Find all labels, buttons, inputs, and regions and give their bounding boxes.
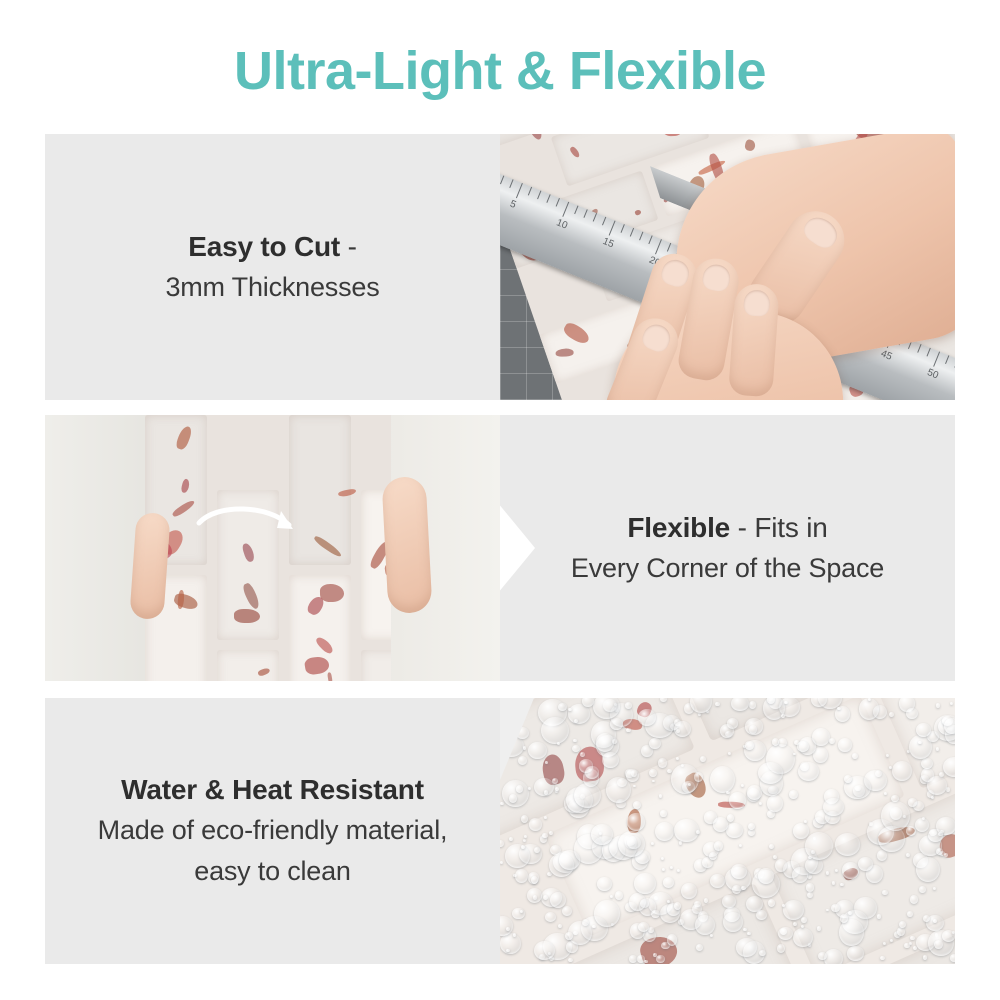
feature-headline-bold: Flexible <box>627 512 730 543</box>
feature-headline-water-heat-resistant: Water & Heat Resistant <box>121 770 424 810</box>
infographic-page: Ultra-Light & Flexible Easy to Cut - 3mm… <box>0 0 1000 1000</box>
feature-headline-bold: Easy to Cut <box>188 231 340 262</box>
supporting-thumb-right <box>381 476 432 614</box>
ring-finger-nail <box>639 321 673 355</box>
little-finger <box>728 283 780 398</box>
page-title: Ultra-Light & Flexible <box>0 38 1000 104</box>
cutting-panel-photo: 051015202530354045505560 <box>500 134 955 400</box>
bent-brick-panel <box>145 415 391 681</box>
feature-text-panel-easy-to-cut: Easy to Cut - 3mm Thicknesses <box>45 134 500 400</box>
little-finger-nail <box>743 289 770 317</box>
feature-text-panel-flexible: Flexible - Fits in Every Corner of the S… <box>500 415 955 681</box>
index-finger-nail <box>659 256 692 289</box>
feature-subline-line2: easy to clean <box>194 851 351 892</box>
feature-headline-flexible: Flexible - Fits in <box>627 508 827 548</box>
feature-row-easy-to-cut: Easy to Cut - 3mm Thicknesses 0510152025… <box>45 134 955 400</box>
bending-panel-photo <box>45 415 500 681</box>
water-droplets-photo <box>500 698 955 964</box>
feature-headline-easy-to-cut: Easy to Cut - <box>188 227 357 267</box>
feature-headline-rest: - Fits in <box>730 512 828 543</box>
feature-row-water-heat-resistant: Water & Heat Resistant Made of eco-frien… <box>45 698 955 964</box>
feature-subline-line1: Made of eco-friendly material, <box>98 810 448 851</box>
feature-text-panel-water-heat-resistant: Water & Heat Resistant Made of eco-frien… <box>45 698 500 964</box>
feature-row-flexible: Flexible - Fits in Every Corner of the S… <box>45 415 955 681</box>
bend-direction-arrow <box>195 501 305 547</box>
feature-subline-easy-to-cut: 3mm Thicknesses <box>165 267 379 308</box>
feature-headline-rest: - <box>340 231 357 262</box>
photo-corner-cut <box>500 698 534 780</box>
middle-finger-nail <box>701 263 732 293</box>
water-droplet-layer <box>500 698 955 964</box>
feature-subline-flexible: Every Corner of the Space <box>571 548 884 589</box>
